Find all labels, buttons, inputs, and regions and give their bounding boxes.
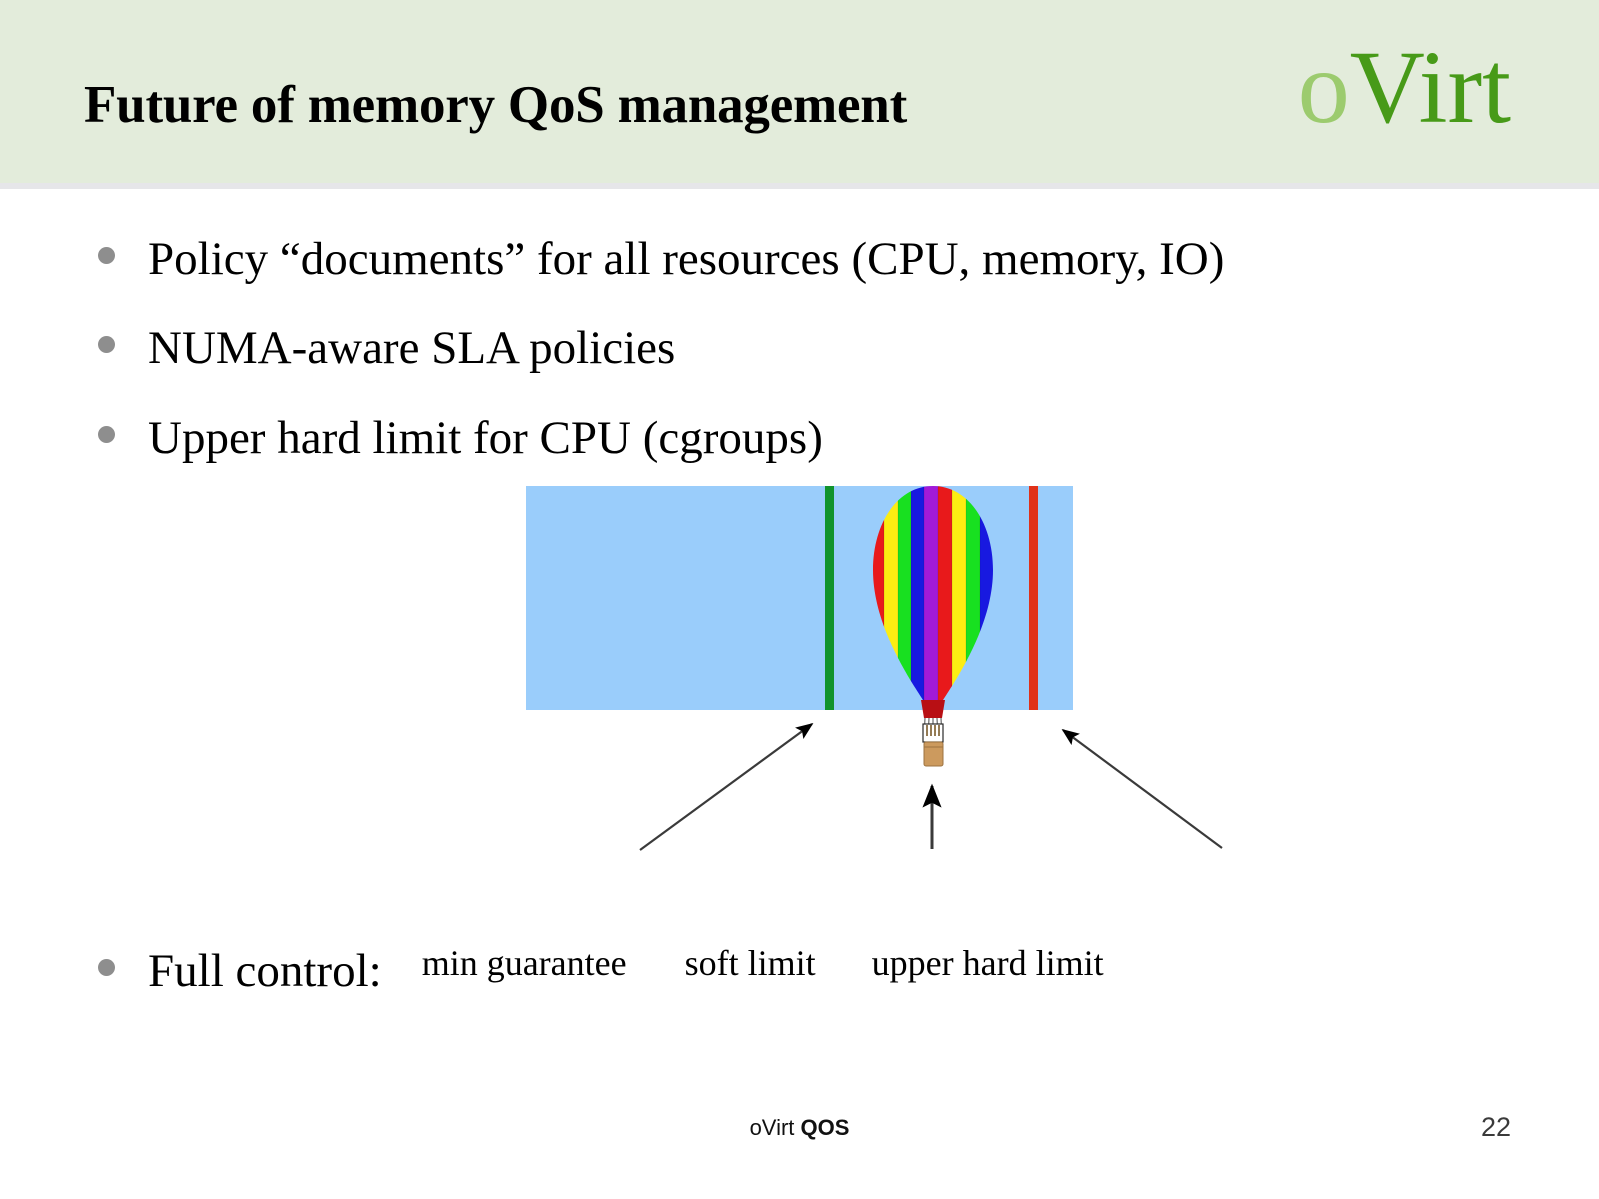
balloon-envelope-stripes (868, 484, 998, 724)
balloon-ropes (924, 718, 942, 740)
bullet-dot-icon (98, 336, 115, 353)
ovirt-logo: oVirt (1298, 36, 1511, 140)
balloon-burner-frame (923, 724, 943, 742)
min-guarantee-marker-line (825, 486, 834, 710)
balloon-burner-flames (927, 725, 939, 736)
label-upper-hard-limit: upper hard limit (872, 942, 1104, 984)
arrow-to-upper-hard-limit (1063, 730, 1222, 848)
bullet-dot-icon (98, 247, 115, 264)
bullet-item-label: Policy “documents” for all resources (CP… (148, 232, 1224, 286)
bullet-item-upper-hard-limit: Upper hard limit for CPU (cgroups) (98, 411, 823, 465)
full-control-line: Full control:min guaranteesoft limituppe… (98, 962, 1104, 979)
memory-range-box (526, 486, 1073, 710)
balloon-basket (924, 742, 943, 766)
bullet-dot-icon (98, 959, 115, 976)
label-min-guarantee: min guarantee (422, 942, 627, 984)
header-divider (0, 183, 1599, 189)
bullet-item-numa-aware: NUMA-aware SLA policies (98, 321, 675, 375)
footer-brand-light: oVirt (750, 1115, 801, 1140)
full-control-label: Full control: (148, 944, 382, 998)
upper-hard-limit-marker-line (1029, 486, 1038, 710)
bullet-item-label: Upper hard limit for CPU (cgroups) (148, 411, 823, 465)
balloon-seam-lines (884, 484, 980, 724)
arrow-to-min-guarantee (640, 724, 812, 850)
page-title: Future of memory QoS management (84, 75, 907, 135)
bullet-item-policy-documents: Policy “documents” for all resources (CP… (98, 232, 1224, 286)
slide: Future of memory QoS management oVirt Po… (0, 0, 1599, 1199)
page-number: 22 (1481, 1112, 1511, 1143)
footer-brand: oVirt QOS (0, 1115, 1599, 1141)
bullet-dot-icon (98, 426, 115, 443)
footer-brand-bold: QOS (801, 1115, 850, 1140)
hot-air-balloon-icon (868, 484, 998, 769)
logo-o-glyph: o (1298, 30, 1350, 145)
balloon-skirt (921, 700, 945, 718)
logo-virt-text: Virt (1350, 30, 1511, 145)
label-soft-limit: soft limit (685, 942, 816, 984)
bullet-item-label: NUMA-aware SLA policies (148, 321, 675, 375)
